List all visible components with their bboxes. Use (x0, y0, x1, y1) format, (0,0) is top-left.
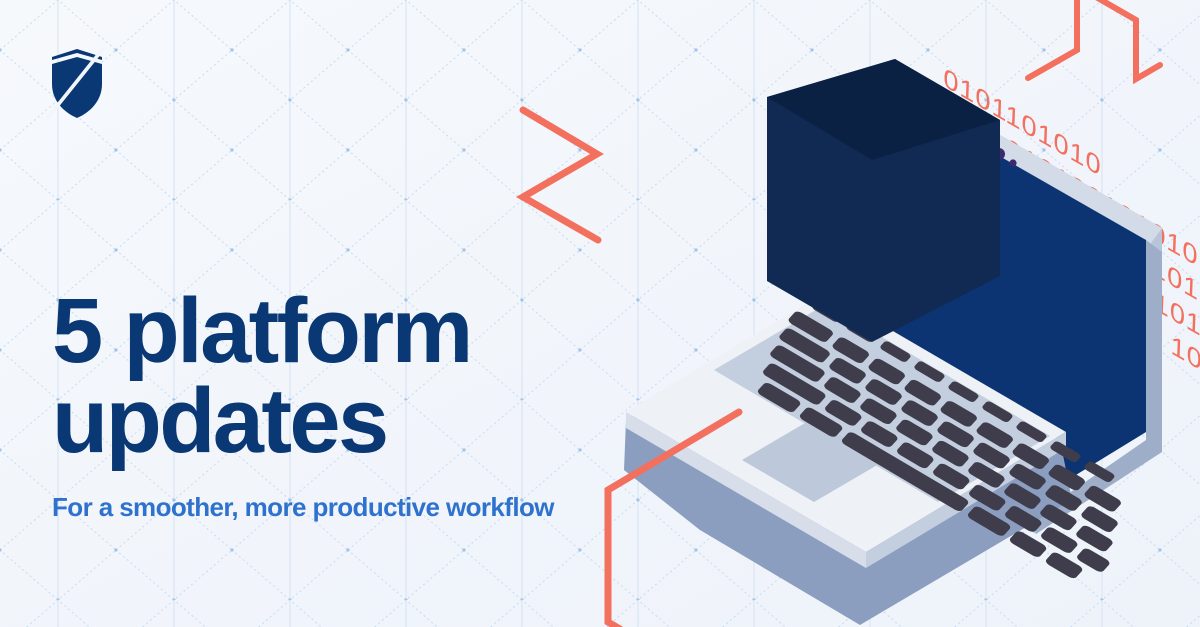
promo-banner: 0101101010 010101010010101010 0101101010… (0, 0, 1200, 627)
hero-text: 5 platform updates For a smoother, more … (52, 286, 672, 523)
shield-icon (46, 44, 108, 120)
headline-line-1: 5 platform (52, 280, 471, 382)
headline-line-2: updates (52, 376, 672, 466)
page-title: 5 platform updates (52, 286, 672, 466)
subtitle: For a smoother, more productive workflow (52, 492, 672, 523)
